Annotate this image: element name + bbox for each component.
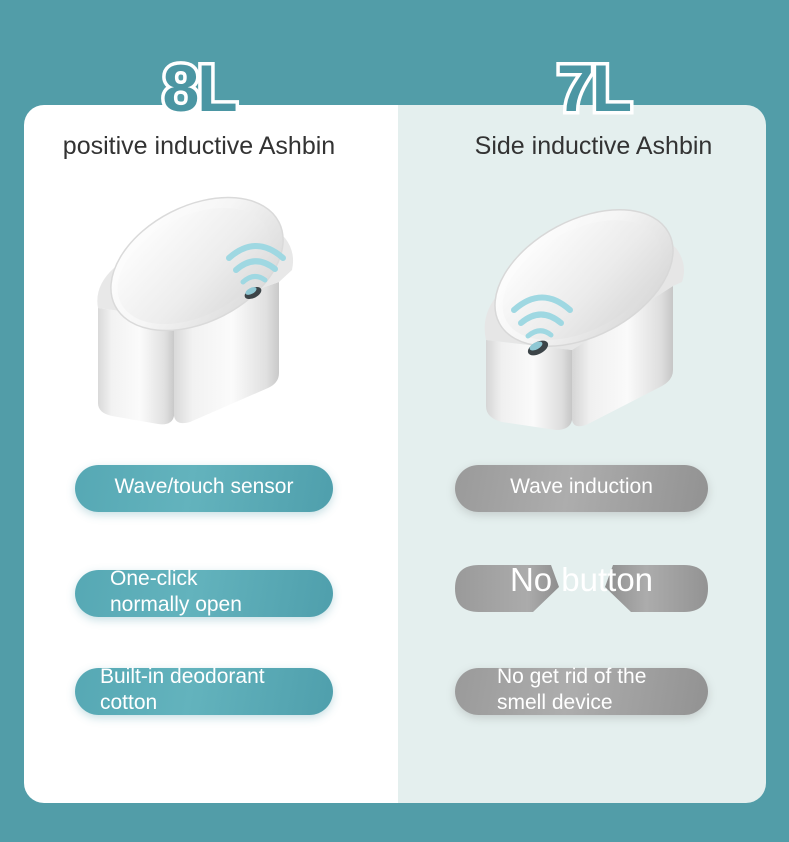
- feature-label-left-3: Built-in deodorant cotton: [100, 664, 265, 716]
- product-title-left: positive inductive Ashbin: [0, 132, 398, 161]
- product-title-right: Side inductive Ashbin: [398, 132, 789, 161]
- capacity-badge-left: 8L: [0, 55, 398, 121]
- capacity-badge-right: 7L: [398, 55, 789, 121]
- trash-bin-top-sensor-icon: [80, 190, 330, 430]
- feature-label-right-3: No get rid of the smell device: [497, 664, 646, 716]
- feature-label-right-2: No button: [455, 561, 708, 599]
- feature-label-right-1: Wave induction: [455, 474, 708, 500]
- feature-label-left-2: One-click normally open: [110, 566, 242, 618]
- feature-label-left-1: Wave/touch sensor: [75, 474, 333, 500]
- trash-bin-side-sensor-icon: [460, 190, 710, 430]
